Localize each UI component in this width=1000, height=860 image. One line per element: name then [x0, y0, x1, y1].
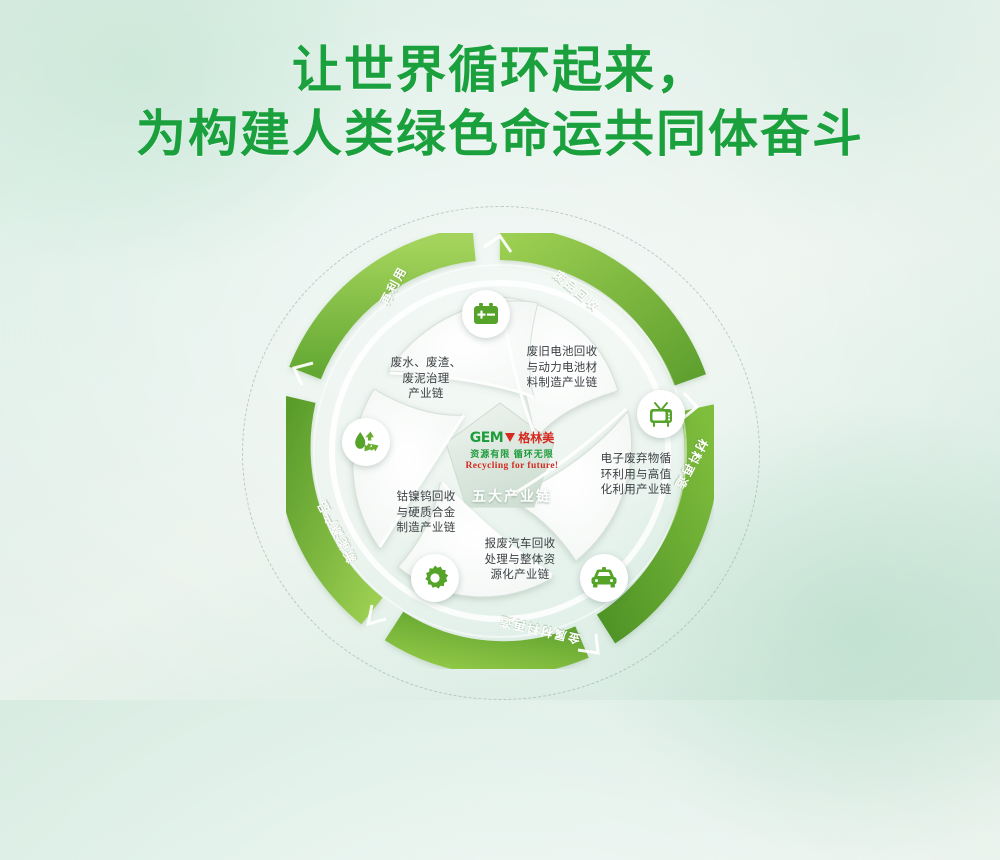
logo-slogan-cn: 资源有限 循环无限 — [459, 447, 565, 460]
logo-gem-text: GEM — [470, 431, 504, 445]
logo-triangle-icon — [505, 433, 515, 442]
segment-label-e-waste: 电子废弃物循 环利用与高值 化利用产业链 — [584, 452, 688, 499]
segment-label-battery: 废旧电池回收 与动力电池材 料制造产业链 — [506, 345, 618, 392]
logo-mark-row: GEM 格林美 — [459, 430, 565, 445]
gem-logo: GEM 格林美 资源有限 循环无限 Recycling for future! — [459, 430, 565, 520]
icon-bubble-water-recycle[interactable] — [342, 418, 390, 466]
infographic-page: { "headline": { "line1": "让世界循环起来，", "li… — [0, 0, 1000, 700]
icon-bubble-battery[interactable] — [462, 290, 510, 338]
gear-icon — [422, 565, 448, 591]
page-title: 让世界循环起来， 为构建人类绿色命运共同体奋斗 — [0, 38, 1000, 166]
logo-brand-cn: 格林美 — [518, 431, 554, 445]
page-title-line-2: 为构建人类绿色命运共同体奋斗 — [0, 102, 1000, 166]
car-icon — [590, 567, 618, 589]
water-recycle-icon — [352, 429, 380, 455]
tv-icon — [648, 401, 674, 427]
icon-bubble-gear[interactable] — [411, 554, 459, 602]
logo-slogan-en: Recycling for future! — [459, 461, 565, 471]
icon-bubble-car[interactable] — [580, 554, 628, 602]
segment-label-water-sludge: 废水、废渣、 废泥治理 产业链 — [372, 356, 480, 403]
segment-label-end-of-life-vehicle: 报废汽车回收 处理与整体资 源化产业链 — [466, 537, 574, 584]
battery-icon — [473, 303, 499, 325]
page-title-line-1: 让世界循环起来， — [0, 38, 1000, 102]
center-label: 五大产业链 — [459, 486, 565, 506]
icon-bubble-tv[interactable] — [637, 390, 685, 438]
